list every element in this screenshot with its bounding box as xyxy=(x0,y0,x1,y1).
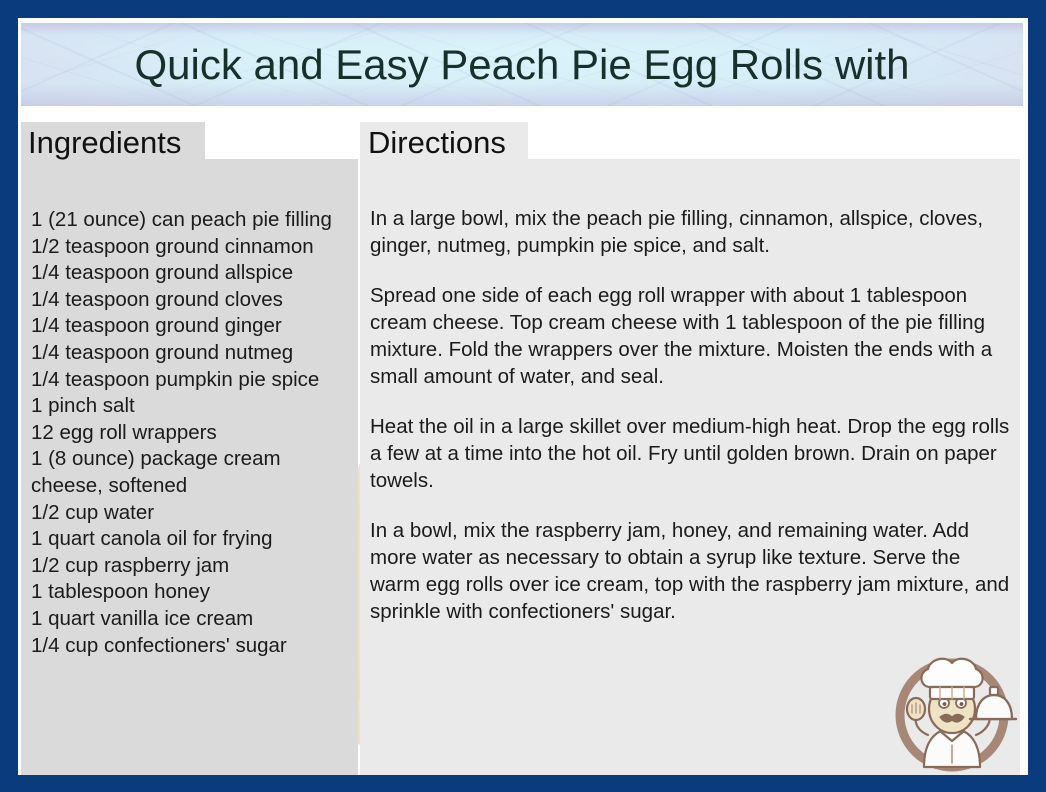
list-item: 1/4 teaspoon ground ginger xyxy=(31,313,351,340)
list-item: 1/4 teaspoon ground nutmeg xyxy=(31,340,351,367)
list-item: 1 (21 ounce) can peach pie filling xyxy=(31,207,351,234)
ingredients-panel: 1 (21 ounce) can peach pie filling 1/2 t… xyxy=(21,159,358,775)
ingredients-list: 1 (21 ounce) can peach pie filling 1/2 t… xyxy=(31,207,351,659)
list-item: 1/4 teaspoon ground cloves xyxy=(31,287,351,314)
list-item: 1/4 teaspoon pumpkin pie spice xyxy=(31,367,351,394)
list-item: 1/4 cup confectioners' sugar xyxy=(31,633,351,660)
directions-steps: In a large bowl, mix the peach pie filli… xyxy=(370,205,1010,625)
direction-paragraph: Heat the oil in a large skillet over med… xyxy=(370,413,1010,494)
recipe-card: Quick and Easy Peach Pie Egg Rolls with xyxy=(0,0,1046,792)
directions-heading: Directions xyxy=(368,124,506,162)
list-item: 1/4 teaspoon ground allspice xyxy=(31,260,351,287)
list-item: 1 quart canola oil for frying xyxy=(31,526,351,553)
ingredients-heading: Ingredients xyxy=(28,124,181,162)
list-item: 1 (8 ounce) package cream cheese, soften… xyxy=(31,446,351,499)
direction-paragraph: In a large bowl, mix the peach pie filli… xyxy=(370,205,1010,259)
list-item: 1 quart vanilla ice cream xyxy=(31,606,351,633)
title-banner: Quick and Easy Peach Pie Egg Rolls with xyxy=(21,23,1023,106)
page-title: Quick and Easy Peach Pie Egg Rolls with xyxy=(21,41,1023,89)
list-item: 1 pinch salt xyxy=(31,393,351,420)
chef-with-cloche-logo xyxy=(890,647,1022,773)
list-item: 1/2 cup water xyxy=(31,500,351,527)
list-item: 12 egg roll wrappers xyxy=(31,420,351,447)
list-item: 1/2 cup raspberry jam xyxy=(31,553,351,580)
direction-paragraph: Spread one side of each egg roll wrapper… xyxy=(370,282,1010,390)
list-item: 1/2 teaspoon ground cinnamon xyxy=(31,234,351,261)
direction-paragraph: In a bowl, mix the raspberry jam, honey,… xyxy=(370,517,1010,625)
list-item: 1 tablespoon honey xyxy=(31,579,351,606)
